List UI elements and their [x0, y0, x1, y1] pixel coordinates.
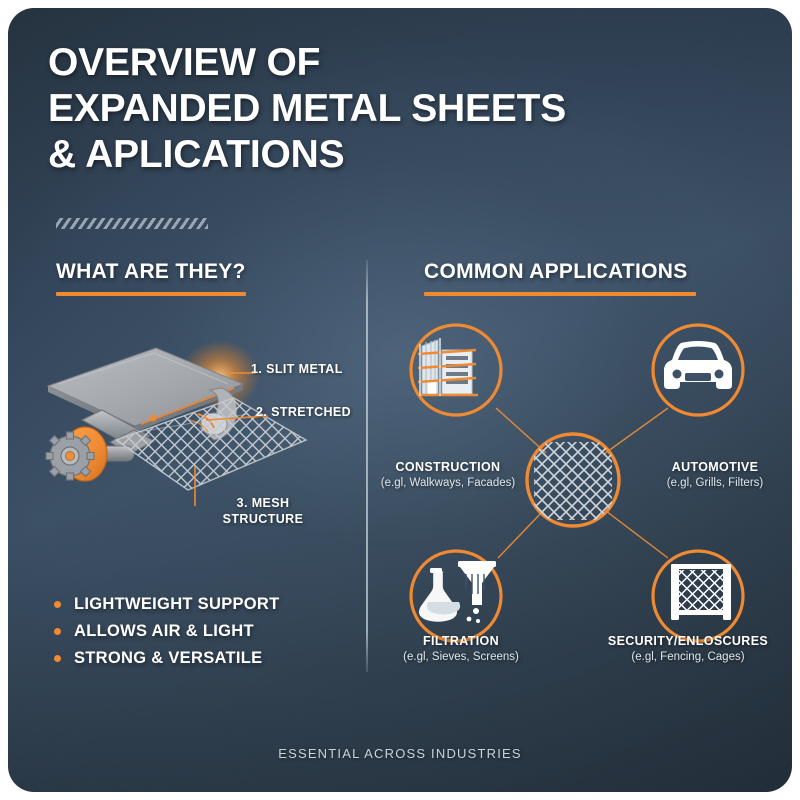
- section-heading-common-applications: COMMON APPLICATIONS: [424, 260, 688, 284]
- callout-slit-metal: 1. SLIT METAL: [251, 361, 343, 377]
- benefit-label: STRONG & VERSATILE: [74, 649, 262, 668]
- footer-tagline: ESSENTIAL ACROSS INDUSTRIES: [8, 746, 792, 761]
- section-heading-what-are-they: WHAT ARE THEY?: [56, 260, 246, 284]
- hatch-decoration: [56, 218, 208, 229]
- application-subtitle: (e.gl, Walkways, Facades): [353, 477, 543, 489]
- application-label-security: SECURITY/ENLOSCURES (e.gl, Fencing, Cage…: [593, 634, 783, 663]
- application-label-construction: CONSTRUCTION (e.gl, Walkways, Facades): [353, 460, 543, 489]
- list-item: LIGHTWEIGHT SUPPORT: [54, 591, 280, 618]
- section-rule-right: [424, 292, 696, 296]
- infographic-poster: OVERVIEW OF EXPANDED METAL SHEETS & APLI…: [8, 8, 792, 792]
- expanded-metal-machine-illustration: [38, 328, 368, 538]
- section-rule-left: [56, 292, 246, 296]
- benefits-list: LIGHTWEIGHT SUPPORT ALLOWS AIR & LIGHT S…: [54, 591, 280, 672]
- page-title-line-1: OVERVIEW OF: [48, 40, 648, 86]
- application-node-filtration[interactable]: [411, 551, 501, 641]
- application-label-automotive: AUTOMOTIVE (e.gl, Grills, Filters): [620, 460, 792, 489]
- application-title: AUTOMOTIVE: [620, 460, 792, 474]
- application-subtitle: (e.gl, Fencing, Cages): [593, 651, 783, 663]
- application-node-automotive[interactable]: [653, 325, 743, 415]
- application-title: CONSTRUCTION: [353, 460, 543, 474]
- application-subtitle: (e.gl, Sieves, Screens): [366, 651, 556, 663]
- page-title-line-3: & APLICATIONS: [48, 132, 648, 178]
- gear-roller: [46, 427, 107, 481]
- cog-icon: [46, 432, 94, 480]
- applications-diagram: [368, 308, 792, 688]
- flask-funnel-icon: [420, 561, 496, 623]
- callout-mesh-structure: 3. MESH STRUCTURE: [208, 495, 318, 527]
- benefit-label: LIGHTWEIGHT SUPPORT: [74, 595, 280, 614]
- application-subtitle: (e.gl, Grills, Filters): [620, 477, 792, 489]
- application-node-security[interactable]: [653, 551, 743, 641]
- car-front-icon: [664, 341, 732, 389]
- list-item: STRONG & VERSATILE: [54, 645, 280, 672]
- callout-mesh-line-1: 3. MESH: [237, 496, 290, 510]
- application-label-filtration: FILTRATION (e.gl, Sieves, Screens): [366, 634, 556, 663]
- bullet-dot-icon: [54, 628, 61, 635]
- callout-stretched: 2. STRETCHED: [256, 404, 351, 420]
- benefit-label: ALLOWS AIR & LIGHT: [74, 622, 254, 641]
- page-title: OVERVIEW OF EXPANDED METAL SHEETS & APLI…: [48, 40, 648, 178]
- building-scaffold-icon: [418, 338, 478, 396]
- application-node-construction[interactable]: [411, 325, 501, 415]
- callout-mesh-line-2: STRUCTURE: [223, 512, 304, 526]
- page-title-line-2: EXPANDED METAL SHEETS: [48, 86, 648, 132]
- list-item: ALLOWS AIR & LIGHT: [54, 618, 280, 645]
- expanded-mesh-icon: [534, 442, 612, 520]
- bullet-dot-icon: [54, 601, 61, 608]
- bullet-dot-icon: [54, 655, 61, 662]
- fence-mesh-icon: [671, 564, 731, 620]
- application-title: FILTRATION: [366, 634, 556, 648]
- application-title: SECURITY/ENLOSCURES: [593, 634, 783, 648]
